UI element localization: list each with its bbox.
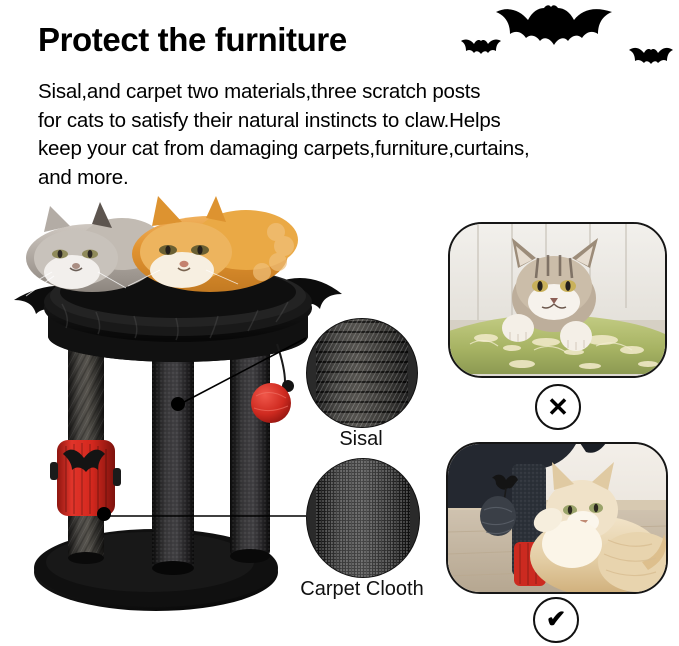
photo-bad-example [448,222,667,378]
photo-cat-using-post [448,444,666,592]
check-mark-glyph: ✔ [546,608,566,632]
carpet-label: Carpet Clooth [266,578,458,601]
bat-big-icon [494,4,614,58]
sisal-texture [316,318,408,428]
header-section: Protect the furniture Sisal,and carpet t… [0,0,679,196]
cross-mark-glyph: ✕ [547,394,569,420]
cross-mark-icon: ✕ [535,384,581,430]
description-text: Sisal,and carpet two materials,three scr… [38,78,654,192]
carpet-texture [316,458,410,578]
sisal-label: Sisal [306,428,416,451]
callout-carpet: Carpet Clooth [306,458,418,576]
photo-cat-clawing-sofa [450,224,665,376]
grooming-brush [50,440,121,516]
scratch-post-right [230,346,270,563]
photo-good-example [446,442,668,594]
callout-dot-carpet [97,507,111,521]
bat-small-icon [628,46,674,68]
scratch-post-center [152,346,194,575]
page-title: Protect the furniture [38,20,347,60]
callout-dot-sisal [171,397,185,411]
carpet-swatch-circle [306,458,420,578]
check-mark-icon: ✔ [533,597,579,643]
bat-mid-icon [460,38,502,58]
callout-sisal: Sisal [306,318,416,426]
sisal-swatch-circle [306,318,418,428]
